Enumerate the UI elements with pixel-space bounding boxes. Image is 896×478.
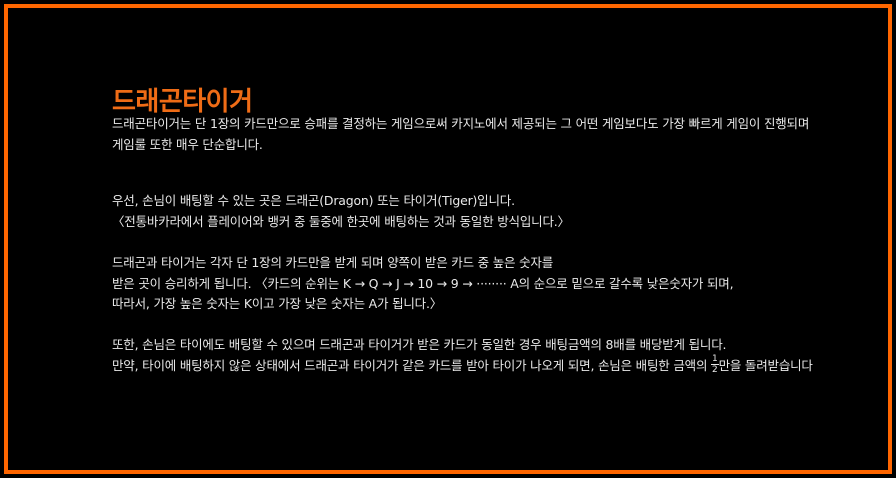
paragraph-line: 우선, 손님이 배팅할 수 있는 곳은 드래곤(Dragon) 또는 타이거(T… bbox=[112, 191, 570, 212]
line-text-after-fraction: 만을 돌려받습니다 bbox=[719, 358, 813, 373]
article-content: 드래곤타이거 드래곤타이거는 단 1장의 카드만으로 승패를 결정하는 게임으로… bbox=[108, 8, 888, 470]
paragraph-line: 게임룰 또한 매우 단순합니다. bbox=[112, 135, 809, 156]
line-text-before-fraction: 만약, 타이에 배팅하지 않은 상태에서 드래곤과 타이거가 같은 카드를 받아… bbox=[112, 358, 711, 373]
page-frame: 드래곤타이거 드래곤타이거는 단 1장의 카드만으로 승패를 결정하는 게임으로… bbox=[4, 4, 892, 474]
paragraph-line: 또한, 손님은 타이에도 배팅할 수 있으며 드래곤과 타이거가 받은 카드가 … bbox=[112, 335, 813, 356]
page-title: 드래곤타이거 bbox=[112, 81, 253, 118]
paragraph-line: 받은 곳이 승리하게 됩니다. 〈카드의 순위는 K → Q → J → 10 … bbox=[112, 274, 733, 295]
paragraph-intro: 드래곤타이거는 단 1장의 카드만으로 승패를 결정하는 게임으로써 카지노에서… bbox=[112, 114, 809, 155]
paragraph-line: 〈전통바카라에서 플레이어와 뱅커 중 둘중에 한곳에 배팅하는 것과 동일한 … bbox=[112, 212, 570, 233]
paragraph-card-ranking: 드래곤과 타이거는 각자 단 1장의 카드만을 받게 되며 양쪽이 받은 카드 … bbox=[112, 253, 733, 315]
paragraph-line: 따라서, 가장 높은 숫자는 K이고 가장 낮은 숫자는 A가 됩니다.〉 bbox=[112, 294, 733, 315]
paragraph-tie-rules: 또한, 손님은 타이에도 배팅할 수 있으며 드래곤과 타이거가 받은 카드가 … bbox=[112, 335, 813, 376]
paragraph-line: 드래곤타이거는 단 1장의 카드만으로 승패를 결정하는 게임으로써 카지노에서… bbox=[112, 114, 809, 135]
fraction-numerator: 1 bbox=[711, 355, 719, 365]
one-half-fraction: 12 bbox=[711, 355, 719, 375]
fraction-denominator: 2 bbox=[711, 365, 719, 375]
paragraph-line: 드래곤과 타이거는 각자 단 1장의 카드만을 받게 되며 양쪽이 받은 카드 … bbox=[112, 253, 733, 274]
paragraph-betting-options: 우선, 손님이 배팅할 수 있는 곳은 드래곤(Dragon) 또는 타이거(T… bbox=[112, 191, 570, 232]
paragraph-line-with-fraction: 만약, 타이에 배팅하지 않은 상태에서 드래곤과 타이거가 같은 카드를 받아… bbox=[112, 356, 813, 377]
